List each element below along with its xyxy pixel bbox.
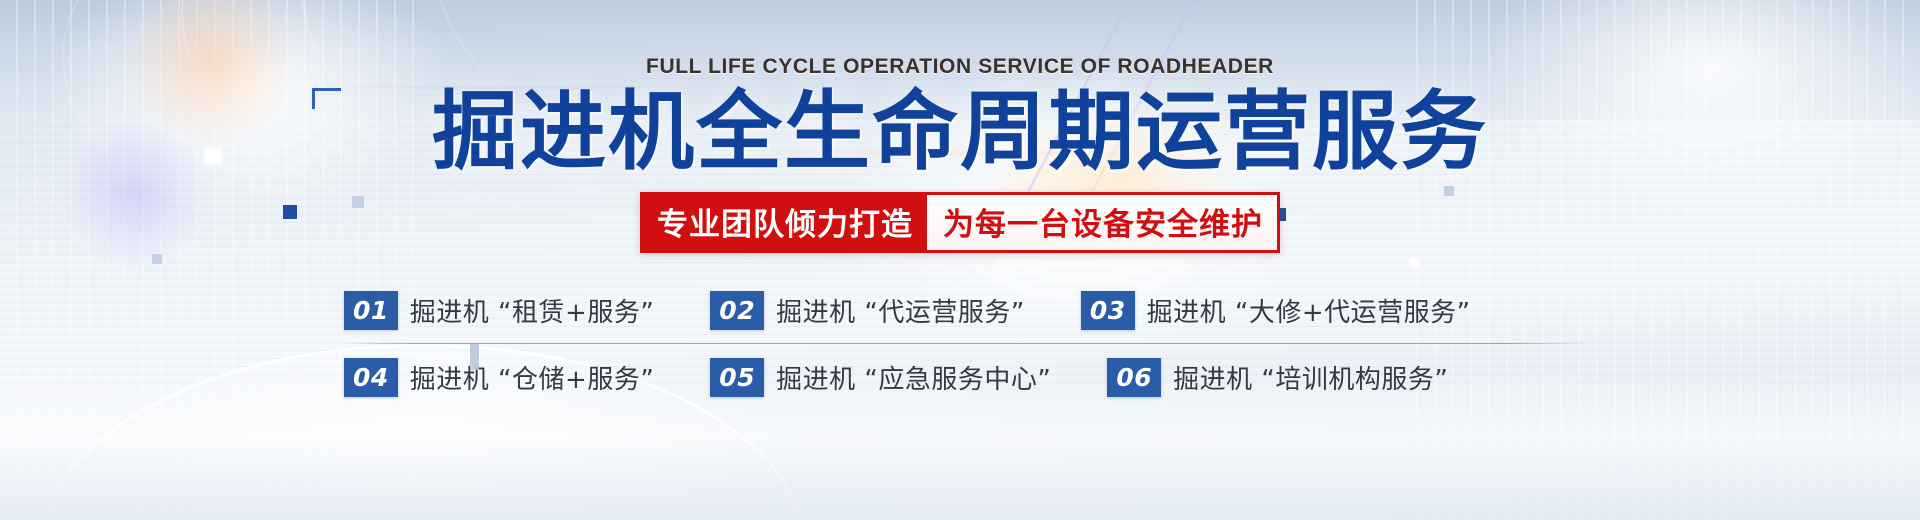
page-title: 掘进机全生命周期运营服务 (432, 87, 1488, 178)
service-label: 掘进机 “租赁+服务” (410, 292, 655, 329)
promo-banner: FULL LIFE CYCLE OPERATION SERVICE OF ROA… (0, 0, 1920, 520)
service-label: 掘进机 “仓储+服务” (410, 359, 655, 396)
service-item-02[interactable]: 02 掘进机 “代运营服务” (710, 291, 1025, 330)
service-row-1: 01 掘进机 “租赁+服务” 02 掘进机 “代运营服务” 03 掘进机 “大修… (330, 283, 1590, 337)
service-number-badge: 01 (344, 291, 398, 330)
service-label: 掘进机 “应急服务中心” (776, 359, 1051, 396)
slogan-secondary: 为每一台设备安全维护 (927, 195, 1277, 250)
eyebrow-text: FULL LIFE CYCLE OPERATION SERVICE OF ROA… (646, 55, 1274, 79)
service-list: 01 掘进机 “租赁+服务” 02 掘进机 “代运营服务” 03 掘进机 “大修… (330, 283, 1590, 404)
service-label: 掘进机 “培训机构服务” (1173, 359, 1448, 396)
service-divider (338, 343, 1588, 344)
service-number-badge: 02 (710, 291, 764, 330)
service-number-badge: 04 (344, 358, 398, 397)
service-number-badge: 03 (1081, 291, 1135, 330)
slogan-primary: 专业团队倾力打造 (643, 195, 927, 250)
service-item-05[interactable]: 05 掘进机 “应急服务中心” (710, 358, 1051, 397)
slogan-banner: 专业团队倾力打造 为每一台设备安全维护 (640, 192, 1280, 253)
service-label: 掘进机 “代运营服务” (776, 292, 1025, 329)
service-label: 掘进机 “大修+代运营服务” (1147, 292, 1471, 329)
service-number-badge: 05 (710, 358, 764, 397)
service-row-2: 04 掘进机 “仓储+服务” 05 掘进机 “应急服务中心” 06 掘进机 “培… (330, 350, 1590, 404)
divider-tick (470, 344, 479, 370)
service-item-06[interactable]: 06 掘进机 “培训机构服务” (1107, 358, 1448, 397)
service-item-01[interactable]: 01 掘进机 “租赁+服务” (344, 291, 654, 330)
banner-content: FULL LIFE CYCLE OPERATION SERVICE OF ROA… (0, 0, 1920, 520)
service-item-03[interactable]: 03 掘进机 “大修+代运营服务” (1081, 291, 1471, 330)
service-number-badge: 06 (1107, 358, 1161, 397)
service-item-04[interactable]: 04 掘进机 “仓储+服务” (344, 358, 654, 397)
